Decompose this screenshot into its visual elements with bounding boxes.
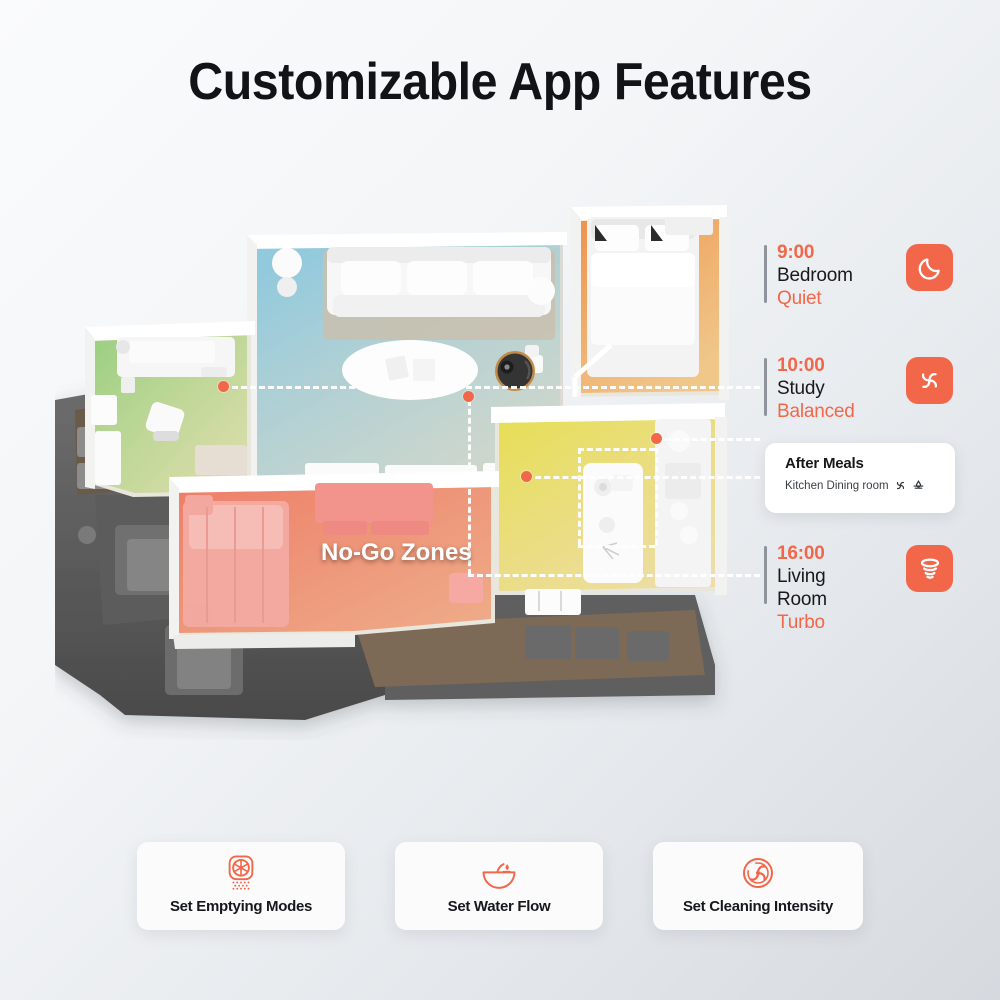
schedule-accent-bar [764, 245, 767, 303]
schedule-time: 16:00 [777, 543, 827, 565]
schedule-room: Living Room [777, 565, 827, 611]
room-study [85, 321, 255, 497]
floorplan-illustration: No-Go Zones [55, 195, 755, 740]
connector-bedroom [656, 438, 760, 441]
dot-bedroom [651, 433, 662, 444]
room-bedroom [571, 205, 729, 400]
after-meals-title: After Meals [785, 455, 955, 472]
dot-living-room [463, 391, 474, 402]
feature-card-water-flow[interactable]: Set Water Flow [395, 842, 603, 930]
dot-study [218, 381, 229, 392]
water-flow-icon [479, 857, 519, 891]
after-meals-subtitle-row: Kitchen Dining room [785, 479, 955, 492]
schedule-room: Study [777, 377, 855, 400]
no-go-zones-label: No-Go Zones [321, 539, 472, 567]
schedule-accent-bar [764, 358, 767, 416]
nogo-rect-top [578, 448, 655, 451]
tornado-glyph [917, 556, 943, 582]
schedule-mode: Turbo [777, 611, 827, 634]
connector-nogo-bottom [468, 574, 760, 577]
feature-card-cleaning-intensity[interactable]: Set Cleaning Intensity [653, 842, 863, 930]
suction-swirl-icon [894, 479, 907, 492]
robot-vacuum [495, 351, 535, 391]
dot-kitchen [521, 471, 532, 482]
mop-drop-icon [912, 479, 925, 492]
schedule-mode: Balanced [777, 400, 855, 423]
moon-icon[interactable] [906, 244, 953, 291]
schedule-time: 10:00 [777, 355, 855, 377]
nogo-rect-left [578, 448, 581, 545]
feature-card-emptying-modes[interactable]: Set Emptying Modes [137, 842, 345, 930]
schedule-time: 9:00 [777, 242, 853, 264]
cleaning-intensity-icon [740, 857, 776, 891]
after-meals-card[interactable]: After Meals Kitchen Dining room [765, 443, 955, 513]
feature-label: Set Cleaning Intensity [683, 898, 833, 915]
connector-kitchen [526, 476, 760, 479]
feature-label: Set Water Flow [448, 898, 551, 915]
schedule-mode: Quiet [777, 287, 853, 310]
floorplan-svg [55, 195, 755, 740]
tornado-icon[interactable] [906, 545, 953, 592]
feature-label: Set Emptying Modes [170, 898, 312, 915]
connector-study [223, 386, 760, 389]
moon-glyph [917, 255, 943, 281]
swirl-glyph [916, 367, 943, 394]
nogo-rect-right [655, 448, 658, 545]
after-meals-rooms: Kitchen Dining room [785, 480, 889, 492]
swirl-icon[interactable] [906, 357, 953, 404]
nogo-rect-bottom [578, 545, 655, 548]
sofa [327, 247, 551, 317]
page-title: Customizable App Features [35, 52, 965, 112]
emptying-modes-icon [222, 857, 260, 891]
dining-table [583, 463, 643, 583]
room-kitchen-dining [491, 403, 727, 615]
schedule-room: Bedroom [777, 264, 853, 287]
schedule-accent-bar [764, 546, 767, 604]
no-go-bed [183, 495, 289, 627]
